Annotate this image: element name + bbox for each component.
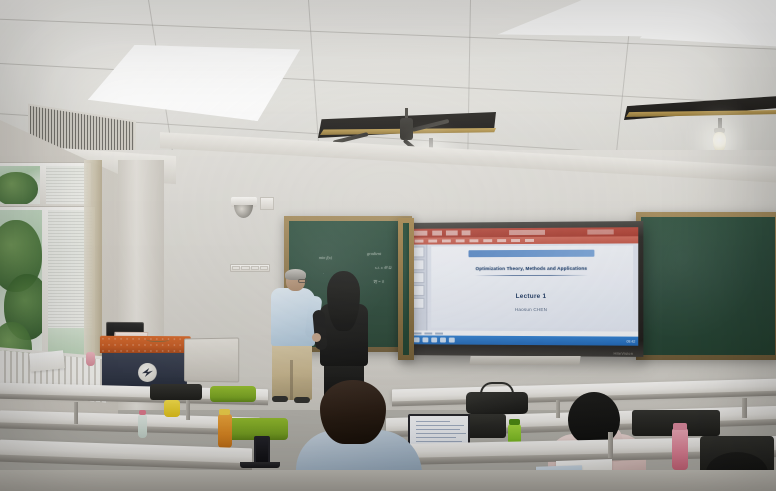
ribbon-tab-transitions[interactable] — [469, 239, 478, 242]
yellow-bottle[interactable] — [164, 400, 180, 417]
laptop-screen-left[interactable] — [254, 436, 270, 464]
light-switch[interactable] — [251, 266, 259, 270]
light-switch[interactable] — [232, 266, 240, 270]
taskbar-app-icon[interactable] — [449, 338, 455, 343]
thermos-cap — [673, 423, 687, 430]
student-center-hair — [320, 380, 386, 444]
taskbar-app-icon[interactable] — [422, 337, 428, 342]
status-indicator — [414, 332, 422, 334]
assistant-hair — [327, 271, 360, 331]
display-wall-mount — [469, 356, 580, 365]
lectern-cable — [146, 335, 170, 342]
lecture-hall-photo: min f(x) gradient s.t. x ∈ Ω ∇f = 0 · — [0, 0, 776, 491]
slide-divider-rule — [475, 274, 588, 275]
pendant-bulb-right — [713, 132, 726, 152]
desk-leg — [608, 432, 613, 458]
desk-leg — [556, 400, 560, 418]
university-crest-icon — [138, 363, 157, 382]
chair-dark[interactable] — [150, 384, 202, 400]
desk-leg — [74, 402, 78, 424]
ribbon-tab-file[interactable] — [415, 240, 424, 243]
chalk-note: s.t. x ∈ Ω — [375, 265, 392, 270]
slide-thumbnail[interactable] — [413, 285, 425, 296]
slide-thumbnail[interactable] — [413, 247, 425, 258]
chalk-note: min f(x) — [319, 255, 332, 260]
slide-workspace[interactable]: Optimization Theory, Methods and Applica… — [411, 243, 638, 331]
status-indicator — [435, 332, 443, 334]
bag-handle[interactable] — [480, 382, 514, 394]
floor — [0, 470, 776, 491]
glasses-icon — [298, 279, 307, 283]
display-brand-label: HiteVision — [614, 352, 634, 356]
chalk-note: gradient — [367, 251, 381, 256]
clear-water-bottle[interactable] — [138, 414, 147, 438]
lectern — [100, 322, 189, 385]
taskbar-app-icon[interactable] — [440, 338, 446, 343]
windows-taskbar[interactable]: 09:42 — [411, 335, 638, 345]
light-switch[interactable] — [260, 266, 268, 270]
lecturer-leg-seam — [290, 360, 293, 400]
slide-course-title: Optimization Theory, Methods and Applica… — [476, 266, 588, 272]
chalkboard-right — [636, 212, 776, 360]
slide-canvas[interactable]: Optimization Theory, Methods and Applica… — [431, 245, 633, 328]
camera-junction-box — [260, 197, 274, 210]
taskbar-app-icon[interactable] — [431, 337, 437, 342]
desk-leg — [186, 400, 190, 420]
light-switch[interactable] — [241, 266, 249, 270]
taskbar-clock: 09:42 — [626, 339, 635, 343]
ribbon-tab-insert[interactable] — [442, 239, 451, 242]
slide-thumbnail[interactable] — [413, 259, 425, 270]
interactive-smart-display[interactable]: Optimization Theory, Methods and Applica… — [406, 221, 643, 357]
small-bottle-on-sill — [86, 352, 95, 366]
lecturer-shoe — [272, 396, 288, 402]
taskbar-start-icon[interactable] — [414, 337, 420, 342]
ribbon-tab-view[interactable] — [525, 239, 534, 242]
lecturer-shoe — [294, 397, 310, 403]
ribbon-tab-design[interactable] — [456, 239, 465, 242]
orange-juice-bottle[interactable] — [218, 414, 232, 448]
slide-thumbnail[interactable] — [413, 272, 425, 283]
chair-green[interactable] — [210, 386, 256, 402]
paper-on-sill — [29, 350, 65, 371]
pink-thermos[interactable] — [672, 428, 688, 470]
slide-banner-bar — [469, 250, 594, 258]
light-switch-panel[interactable] — [230, 264, 270, 272]
chalk-note: ∇f = 0 — [373, 279, 384, 284]
display-screen[interactable]: Optimization Theory, Methods and Applica… — [411, 227, 638, 346]
status-indicator — [424, 332, 432, 334]
laptop-base-left[interactable] — [240, 462, 280, 468]
bottle-cap — [139, 410, 146, 415]
assistant-hand — [312, 333, 321, 342]
chalkboard-center-sliver — [398, 218, 414, 360]
desk-leg — [742, 398, 747, 418]
slide-thumbnail[interactable] — [413, 298, 425, 309]
ribbon-tab-home[interactable] — [428, 240, 437, 243]
lectern-side-cabinet — [184, 337, 239, 382]
slide-presenter-name: Haosun CHEN — [515, 306, 547, 311]
ribbon-tab-slideshow[interactable] — [497, 239, 506, 242]
bottle-cap — [219, 409, 230, 415]
ribbon-tab-animations[interactable] — [483, 239, 492, 242]
slide-lecture-heading: Lecture 1 — [516, 292, 547, 299]
shoulder-bag[interactable] — [466, 392, 528, 414]
bottle-cap — [509, 419, 520, 425]
ribbon-tab-review[interactable] — [511, 239, 520, 242]
